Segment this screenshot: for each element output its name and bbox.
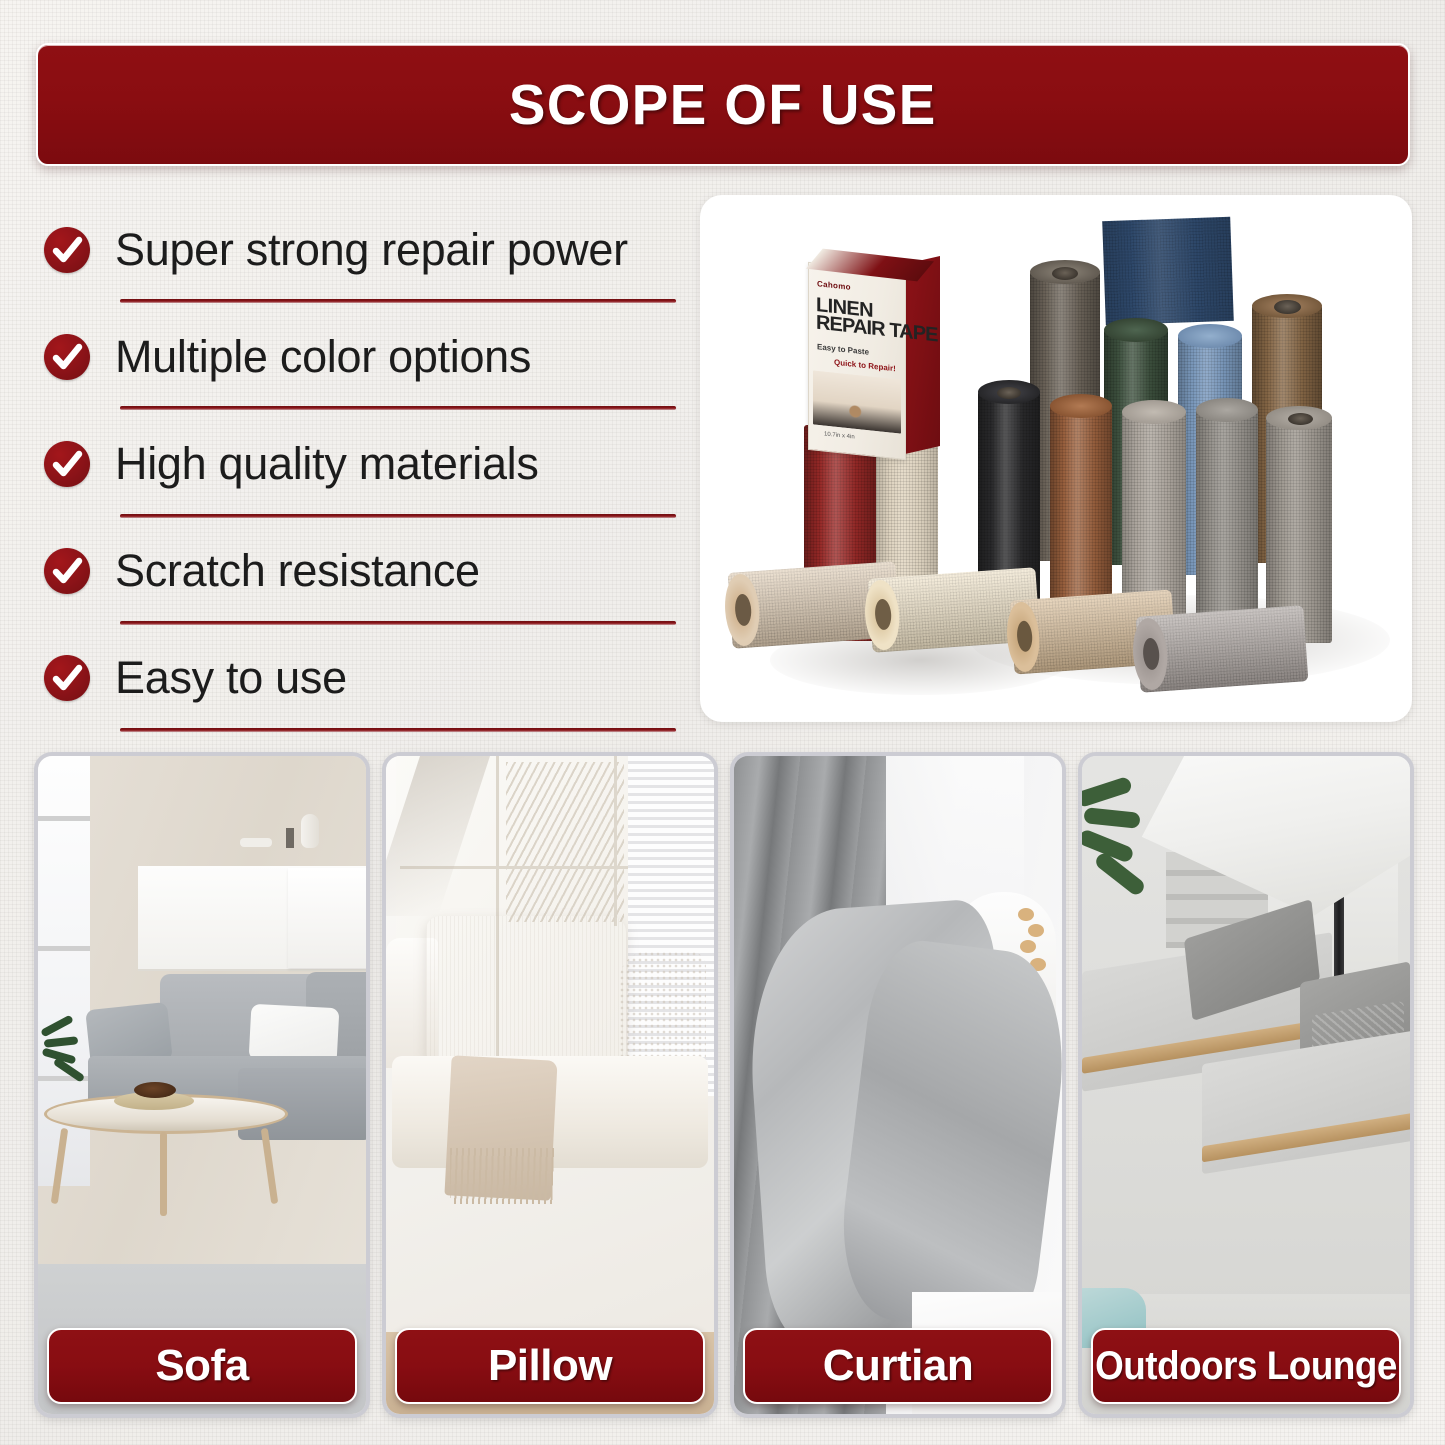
panel-caption-pill: Curtian [743, 1328, 1053, 1404]
tape-roll-lying-gray [1136, 605, 1309, 693]
feature-item: High quality materials [44, 410, 684, 517]
feature-label: Easy to use [115, 652, 347, 704]
sofa-photo [38, 756, 366, 1414]
tape-roll-rust [1050, 405, 1112, 615]
check-circle-icon [44, 227, 90, 273]
check-circle-icon [44, 548, 90, 594]
box-lifestyle-photo [813, 370, 901, 433]
feature-label: Super strong repair power [115, 224, 628, 276]
use-case-panels: Sofa Pillow [34, 752, 1414, 1418]
feature-item: Easy to use [44, 625, 684, 732]
feature-item: Super strong repair power [44, 196, 684, 303]
outdoors-lounge-photo [1082, 756, 1410, 1414]
panel-caption-label: Outdoors Lounge [1095, 1344, 1397, 1389]
check-circle-icon [44, 441, 90, 487]
use-case-panel-curtain[interactable]: Curtian [730, 752, 1066, 1418]
curtain-photo [734, 756, 1062, 1414]
panel-caption-pill: Pillow [395, 1328, 705, 1404]
product-image-card: Cahomo LINEN REPAIR TAPE Easy to Paste Q… [700, 195, 1412, 722]
feature-item: Scratch resistance [44, 518, 684, 625]
use-case-panel-outdoors-lounge[interactable]: Outdoors Lounge [1078, 752, 1414, 1418]
panel-caption-label: Sofa [155, 1341, 248, 1391]
tape-rolls-photo: Cahomo LINEN REPAIR TAPE Easy to Paste Q… [700, 195, 1412, 722]
panel-caption-pill: Sofa [47, 1328, 357, 1404]
feature-label: Multiple color options [115, 331, 531, 383]
feature-label: Scratch resistance [115, 545, 480, 597]
box-side-panel [905, 256, 940, 454]
feature-label: High quality materials [115, 438, 539, 490]
header-banner: SCOPE OF USE [36, 43, 1410, 166]
tape-roll-navy [1102, 217, 1234, 325]
use-case-panel-pillow[interactable]: Pillow [382, 752, 718, 1418]
page-title: SCOPE OF USE [509, 72, 937, 138]
feature-item: Multiple color options [44, 303, 684, 410]
feature-divider [120, 728, 676, 732]
panel-caption-label: Pillow [488, 1341, 612, 1391]
panel-caption-label: Curtian [823, 1341, 974, 1391]
feature-list: Super strong repair power Multiple color… [44, 196, 684, 732]
tape-roll-mid-gray [1196, 409, 1258, 631]
use-case-panel-sofa[interactable]: Sofa [34, 752, 370, 1418]
check-circle-icon [44, 655, 90, 701]
check-circle-icon [44, 334, 90, 380]
panel-caption-pill: Outdoors Lounge [1091, 1328, 1401, 1404]
pillow-photo [386, 756, 714, 1414]
infographic-page: SCOPE OF USE Super strong repair power M… [0, 0, 1445, 1445]
product-box: Cahomo LINEN REPAIR TAPE Easy to Paste Q… [808, 257, 940, 455]
